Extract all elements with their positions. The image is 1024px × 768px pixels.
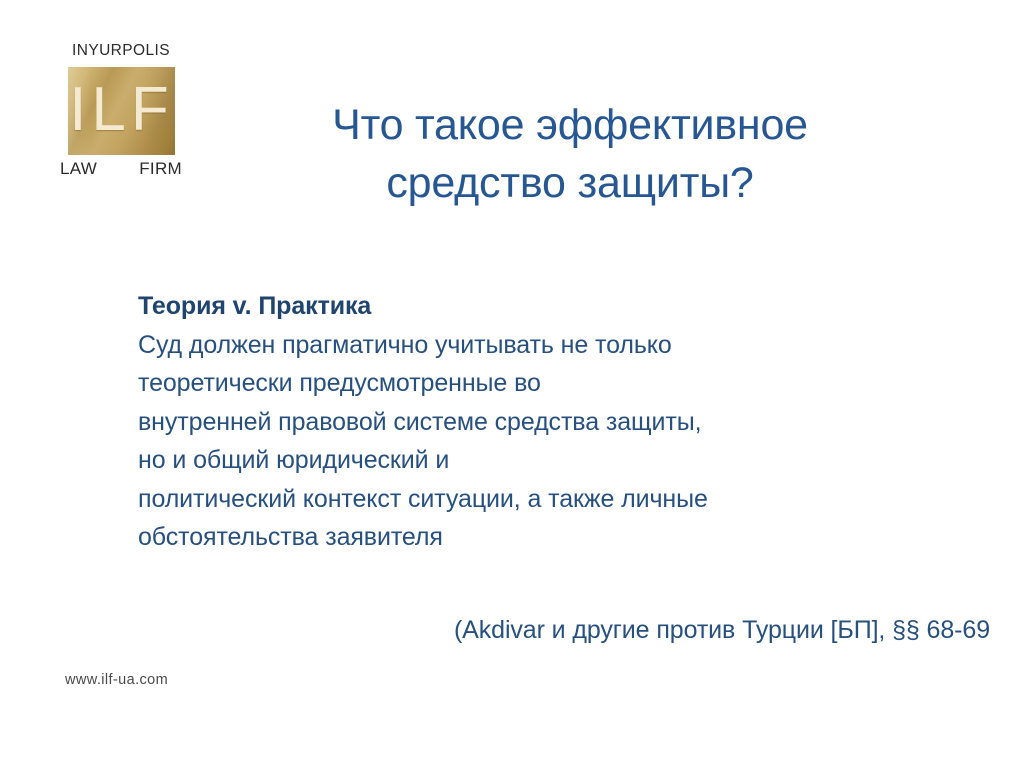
logo-bottom-text: LAW FIRM xyxy=(56,158,186,180)
logo-monogram: ILF xyxy=(68,67,175,155)
logo-bottom-right-word: FIRM xyxy=(139,158,182,180)
logo-top-text: INYURPOLIS xyxy=(56,42,186,60)
logo-bottom-left-word: LAW xyxy=(60,158,97,180)
logo-gold-square: ILF xyxy=(68,67,175,155)
presentation-slide: INYURPOLIS ILF LAW FIRM Что такое эффект… xyxy=(0,0,1024,768)
body-line: внутренней правовой системе средства защ… xyxy=(138,403,928,442)
source-citation: (Akdivar и другие против Турции [БП], §§… xyxy=(138,613,990,647)
slide-title-line-2: средство защиты? xyxy=(230,154,910,212)
slide-title-line-1: Что такое эффективное xyxy=(230,96,910,154)
body-line: Суд должен прагматично учитывать не толь… xyxy=(138,326,928,365)
ilf-logo: INYURPOLIS ILF LAW FIRM xyxy=(56,42,186,190)
body-line: обстоятельства заявителя xyxy=(138,518,928,557)
footer-website-url: www.ilf-ua.com xyxy=(65,672,168,688)
slide-title: Что такое эффективное средство защиты? xyxy=(230,96,910,212)
slide-body-text: Теория v. Практика Суд должен прагматичн… xyxy=(138,287,928,557)
body-line: политический контекст ситуации, а также … xyxy=(138,480,928,519)
body-line: но и общий юридический и xyxy=(138,441,928,480)
body-line: теоретически предусмотренные во xyxy=(138,364,928,403)
body-heading: Теория v. Практика xyxy=(138,287,928,326)
